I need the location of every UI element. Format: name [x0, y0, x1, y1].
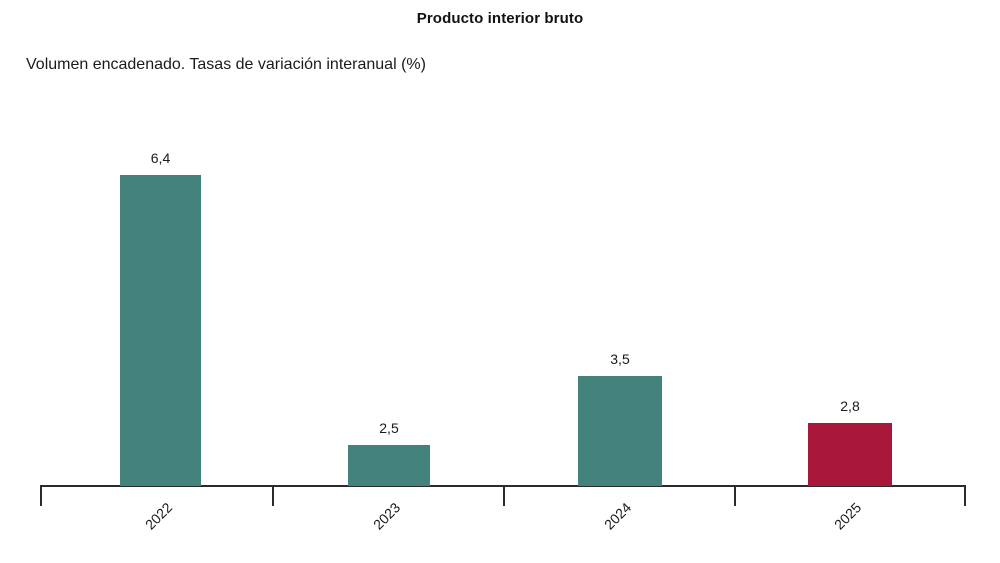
- bar-value-label: 3,5: [610, 351, 629, 367]
- bar-value-label: 2,8: [840, 398, 859, 414]
- x-axis-tick: [272, 487, 274, 506]
- bar-value-label: 6,4: [151, 150, 170, 166]
- bar-2024[interactable]: 3,5: [578, 376, 662, 486]
- bar-rect: [348, 445, 430, 486]
- x-axis-label-2023: 2023: [370, 499, 403, 532]
- chart-container: Producto interior bruto Volumen encadena…: [0, 0, 1000, 563]
- bar-rect: [808, 423, 892, 486]
- x-axis-label-2024: 2024: [601, 499, 634, 532]
- x-axis-tick: [734, 487, 736, 506]
- x-axis-tick: [40, 487, 42, 506]
- plot-area: 6,4 2,5 3,5 2,8 2022 2023 2024 2025: [0, 0, 1000, 563]
- x-axis-tick: [503, 487, 505, 506]
- bar-2025[interactable]: 2,8: [808, 423, 892, 486]
- x-axis-label-2022: 2022: [141, 499, 174, 532]
- bar-value-label: 2,5: [379, 420, 398, 436]
- bar-rect: [578, 376, 662, 486]
- x-axis-label-2025: 2025: [831, 499, 864, 532]
- x-axis-tick: [964, 487, 966, 506]
- bar-2022[interactable]: 6,4: [120, 175, 201, 486]
- bar-2023[interactable]: 2,5: [348, 445, 430, 486]
- bar-rect: [120, 175, 201, 486]
